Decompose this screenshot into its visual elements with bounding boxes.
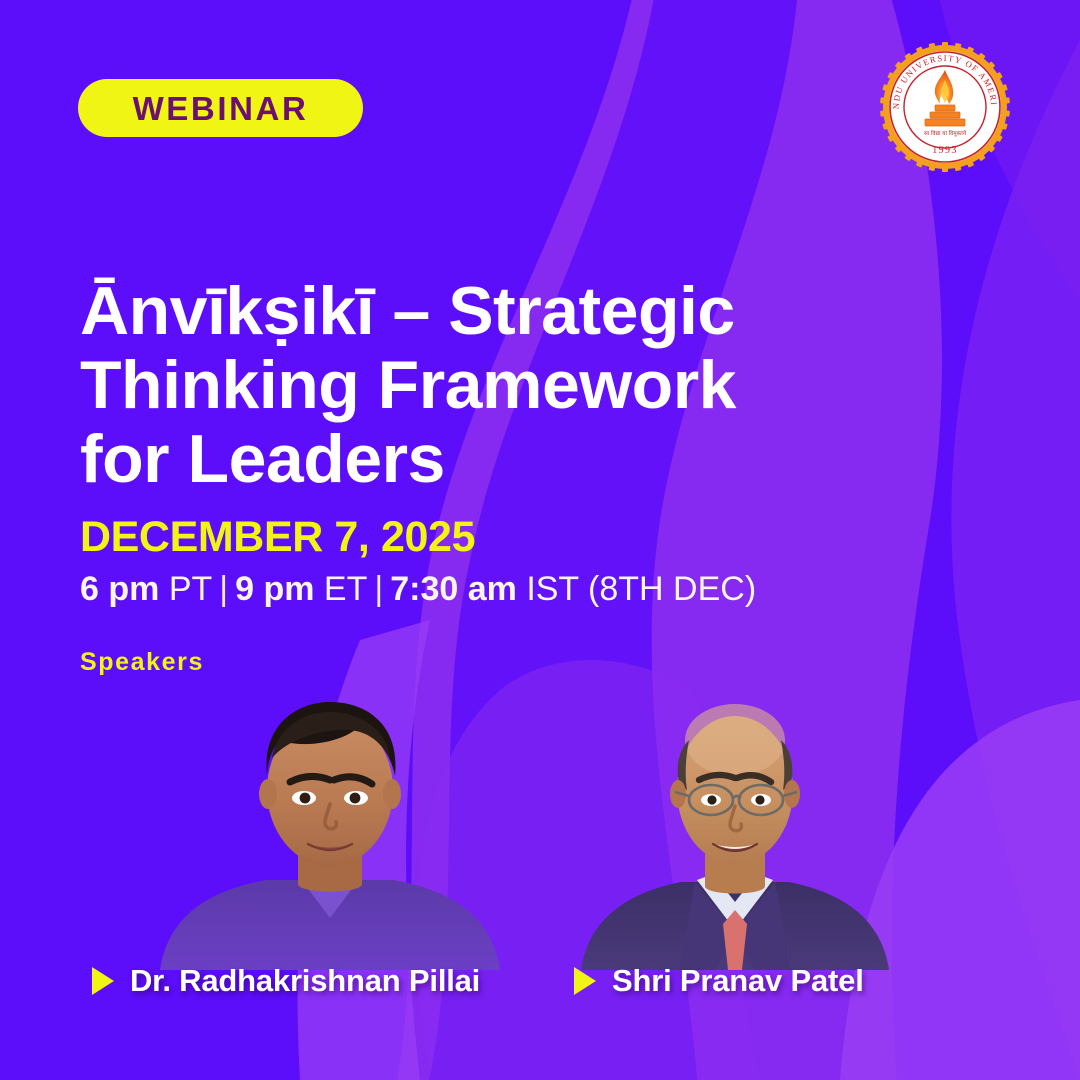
time-1-zone: PT xyxy=(169,570,212,608)
webinar-poster: WEBINAR xyxy=(0,0,1080,1080)
seal-year: 1993 xyxy=(932,145,958,156)
play-triangle-icon xyxy=(574,967,596,995)
time-2-value: 9 pm xyxy=(235,570,314,608)
webinar-badge: WEBINAR xyxy=(78,79,363,137)
page-title: Ānvīkṣikī – Strategic Thinking Framework… xyxy=(80,274,870,496)
event-date: DECEMBER 7, 2025 xyxy=(80,516,475,559)
speaker-2-photo xyxy=(575,678,895,970)
university-seal-logo: HINDU UNIVERSITY OF AMERICA सा विद्या या… xyxy=(880,42,1010,172)
speaker-2-name-row: Shri Pranav Patel xyxy=(574,963,864,999)
play-triangle-icon xyxy=(92,967,114,995)
speaker-1-photo xyxy=(150,678,510,970)
title-line-1: Ānvīkṣikī – Strategic xyxy=(80,274,870,348)
speaker-2-name: Shri Pranav Patel xyxy=(612,963,864,999)
time-separator-2: | xyxy=(367,570,390,608)
speaker-1-name: Dr. Radhakrishnan Pillai xyxy=(130,963,480,999)
time-3-value: 7:30 am xyxy=(390,570,517,608)
time-separator-1: | xyxy=(212,570,235,608)
event-times: 6 pm PT|9 pm ET|7:30 am IST (8TH DEC) xyxy=(80,568,756,611)
title-line-3: for Leaders xyxy=(80,422,870,496)
seal-motto: सा विद्या या विमुक्तये xyxy=(924,129,967,137)
webinar-badge-label: WEBINAR xyxy=(133,92,309,125)
time-3-zone: IST (8TH DEC) xyxy=(526,570,756,608)
speakers-heading: Speakers xyxy=(80,648,204,677)
title-line-2: Thinking Framework xyxy=(80,348,870,422)
time-1-value: 6 pm xyxy=(80,570,159,608)
time-2-zone: ET xyxy=(324,570,367,608)
speaker-1-name-row: Dr. Radhakrishnan Pillai xyxy=(92,963,480,999)
